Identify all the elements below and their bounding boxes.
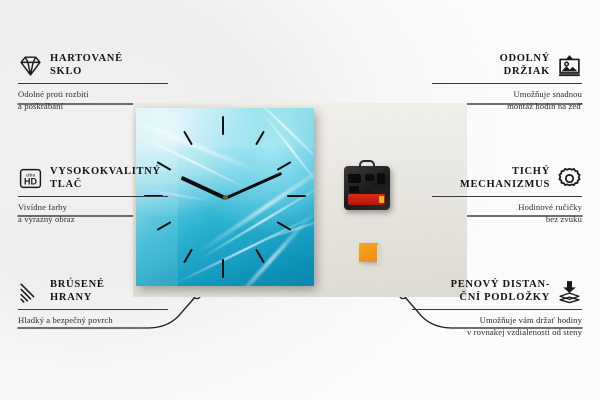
divider xyxy=(18,196,168,197)
feature-pads: PENOVÝ DISTAN- ČNÍ PODLOŽKY Umožňuje vám… xyxy=(412,278,582,338)
feature-title: HARTOVANÉ SKLO xyxy=(50,52,123,79)
feature-edges: BRÚSENÉ HRANY Hladký a bezpečný povrch xyxy=(18,278,168,326)
feature-holder: ODOLNÝ DRŽIAK Umožňuje snadnou montáž ho… xyxy=(432,52,582,112)
divider xyxy=(412,309,582,310)
infographic-stage: HARTOVANÉ SKLO Odolné proti rozbití a po… xyxy=(0,0,600,400)
ultra-hd-icon: ultra HD xyxy=(18,166,43,191)
divider xyxy=(432,196,582,197)
feature-title: PENOVÝ DISTAN- ČNÍ PODLOŽKY xyxy=(451,278,550,305)
divider xyxy=(18,309,168,310)
product-photo xyxy=(133,103,467,297)
clock-tick xyxy=(287,195,306,197)
divider xyxy=(432,83,582,84)
feature-description: Hodinové ručičky bez zvuku xyxy=(432,201,582,225)
feature-description: Hladký a bezpečný povrch xyxy=(18,314,168,326)
feature-title: VYSOKOKVALITNÝ TLAČ xyxy=(50,165,161,192)
diamond-icon xyxy=(18,53,43,78)
feature-description: Umožňuje vám držať hodiny v rovnakej vzd… xyxy=(412,314,582,338)
gear-icon xyxy=(557,166,582,191)
feature-title: ODOLNÝ DRŽIAK xyxy=(500,52,550,79)
picture-frame-hanger-icon xyxy=(557,53,582,78)
divider xyxy=(18,83,168,84)
quartz-mechanism xyxy=(344,166,390,210)
feature-description: Vivídne farby a výrazný obraz xyxy=(18,201,168,225)
clock-tick xyxy=(222,259,224,278)
clock-hub xyxy=(223,195,228,200)
svg-text:HD: HD xyxy=(24,176,37,186)
layers-arrow-icon xyxy=(557,279,582,304)
feature-title: BRÚSENÉ HRANY xyxy=(50,278,105,305)
battery xyxy=(348,194,385,205)
feature-glass: HARTOVANÉ SKLO Odolné proti rozbití a po… xyxy=(18,52,168,112)
feature-description: Odolné proti rozbití a poškrábání xyxy=(18,88,168,112)
clock-tick xyxy=(222,116,224,135)
feature-description: Umožňuje snadnou montáž hodin na zeď xyxy=(432,88,582,112)
feature-print: ultra HD VYSOKOKVALITNÝ TLAČ Vivídne far… xyxy=(18,165,168,225)
feature-title: TICHÝ MECHANIZMUS xyxy=(460,165,550,192)
feature-mechanism: TICHÝ MECHANIZMUS Hodinové ručičky bez z… xyxy=(432,165,582,225)
foam-spacer-pad xyxy=(359,243,378,262)
ground-edges-icon xyxy=(18,279,43,304)
